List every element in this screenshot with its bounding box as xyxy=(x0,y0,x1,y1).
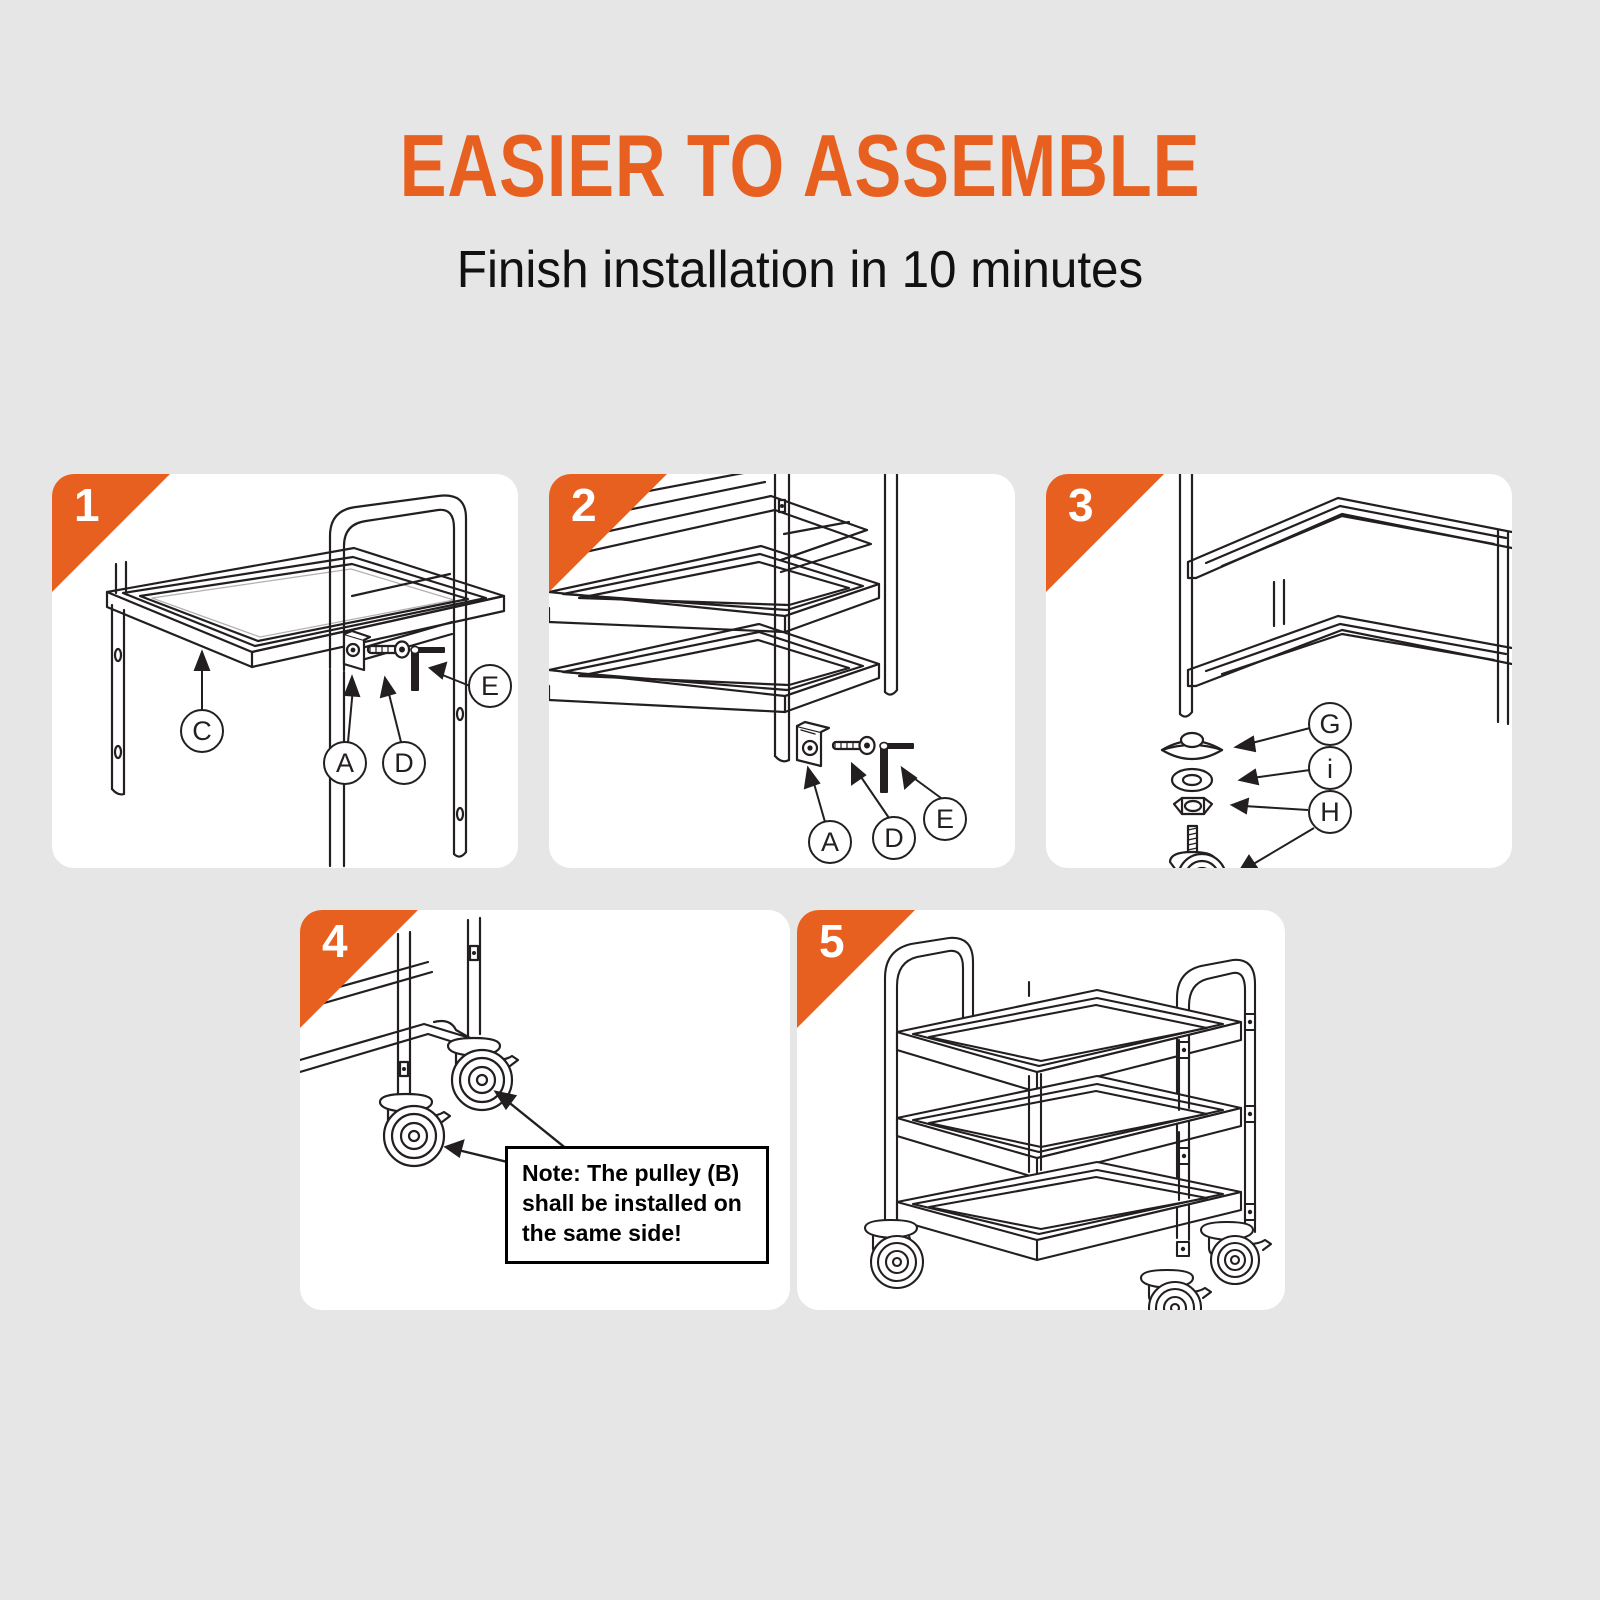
step-panel-2: A D E 2 xyxy=(549,474,1015,868)
step-badge-1: 1 xyxy=(52,474,170,592)
step-badge-5: 5 xyxy=(797,910,915,1028)
steps-grid: C A D E xyxy=(0,0,1600,1600)
label-a: A xyxy=(336,748,354,778)
step-panel-4: Note: The pulley (B) shall be installed … xyxy=(300,910,790,1310)
step-badge-3: 3 xyxy=(1046,474,1164,592)
label-c: C xyxy=(192,716,212,746)
step-panel-3: G i H 3 xyxy=(1046,474,1512,868)
callout-i xyxy=(1240,747,1351,789)
note-box: Note: The pulley (B) shall be installed … xyxy=(505,1146,769,1264)
step-number-5: 5 xyxy=(819,918,845,964)
label-d: D xyxy=(884,823,904,853)
label-i: i xyxy=(1327,754,1333,784)
step-number-1: 1 xyxy=(74,482,100,528)
step-panel-1: C A D E xyxy=(52,474,518,868)
step-number-2: 2 xyxy=(571,482,597,528)
label-a: A xyxy=(821,827,839,857)
label-e: E xyxy=(936,804,954,834)
label-d: D xyxy=(394,748,414,778)
step-number-3: 3 xyxy=(1068,482,1094,528)
label-h: H xyxy=(1320,797,1340,827)
step-badge-2: 2 xyxy=(549,474,667,592)
step-number-4: 4 xyxy=(322,918,348,964)
label-g: G xyxy=(1319,709,1340,739)
step-badge-4: 4 xyxy=(300,910,418,1028)
step-panel-5: 5 xyxy=(797,910,1285,1310)
label-e: E xyxy=(481,671,499,701)
